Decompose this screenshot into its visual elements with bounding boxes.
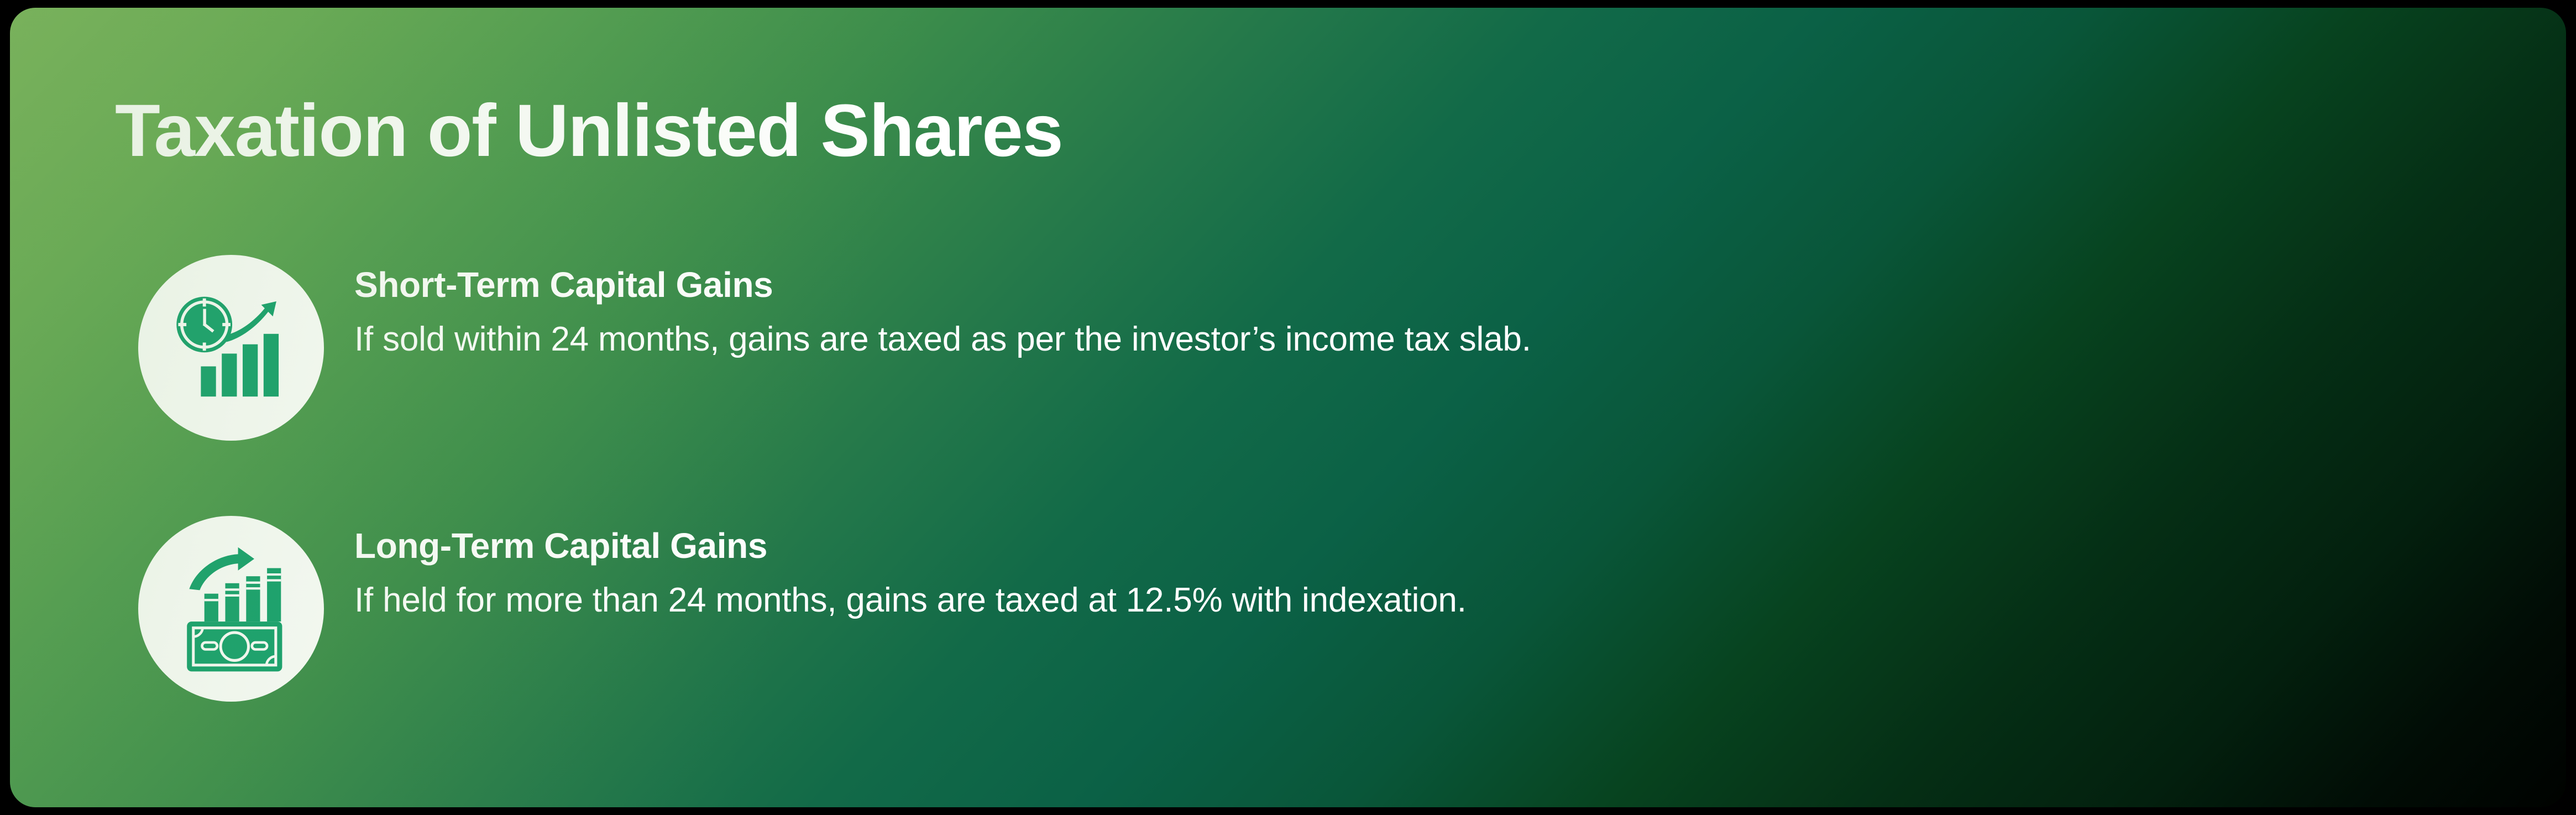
feature-row: Short-Term Capital Gains If sold within … xyxy=(10,255,2566,443)
feature-heading: Short-Term Capital Gains xyxy=(354,267,2533,302)
feature-body: If held for more than 24 months, gains a… xyxy=(354,582,2533,618)
icon-badge xyxy=(138,255,324,441)
taxation-info-card: Taxation of Unlisted Shares xyxy=(10,8,2566,807)
feature-heading: Long-Term Capital Gains xyxy=(354,528,2533,563)
icon-badge xyxy=(138,516,324,702)
clock-bar-chart-growth-icon xyxy=(161,278,301,417)
page-title: Taxation of Unlisted Shares xyxy=(115,94,1062,168)
feature-text-block: Short-Term Capital Gains If sold within … xyxy=(354,267,2533,357)
banknote-bar-chart-growth-icon xyxy=(161,539,301,678)
feature-row: Long-Term Capital Gains If held for more… xyxy=(10,516,2566,704)
feature-body: If sold within 24 months, gains are taxe… xyxy=(354,321,2533,357)
feature-text-block: Long-Term Capital Gains If held for more… xyxy=(354,528,2533,618)
